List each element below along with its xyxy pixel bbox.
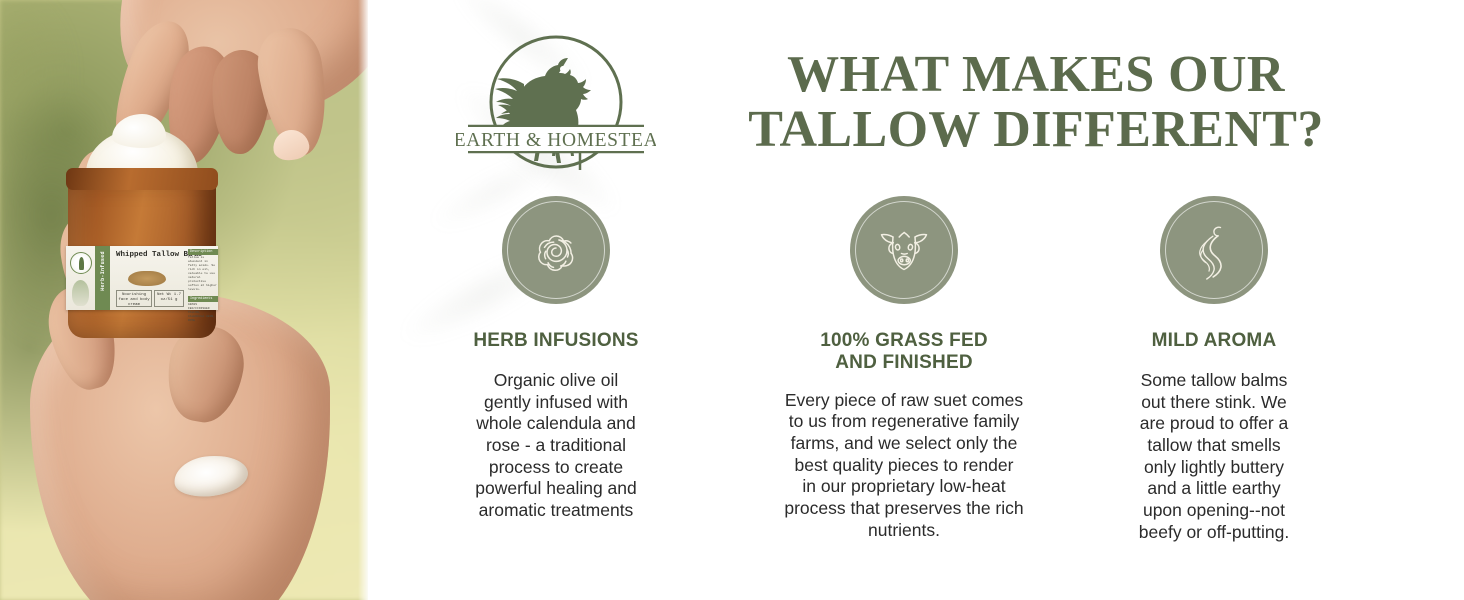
product-photo: Herb-Infused Whipped Tallow Balm Nourish…	[0, 0, 368, 600]
label-net-weight: Net Wt 1.7 oz/51 g	[154, 290, 184, 307]
brand-name-text: HEARTH & HOMESTEAD	[456, 130, 656, 151]
feature-columns: HERB INFUSIONS Organic olive oil gently …	[368, 196, 1464, 543]
cow-head-icon	[873, 222, 935, 278]
brand-logo: HEARTH & HOMESTEAD	[456, 22, 656, 182]
feature-title-2: 100% GRASS FED AND FINISHED	[820, 330, 988, 374]
label-right-panel: Description Tallow is abundant in fatty …	[188, 249, 218, 327]
label-ingredients-body: GRASS FED/FINISHED TALLOW, CALENDULA HER…	[188, 303, 218, 323]
jar-label: Herb-Infused Whipped Tallow Balm Nourish…	[66, 246, 218, 310]
label-sprig-icon	[72, 280, 89, 306]
content-panel: HEARTH & HOMESTEAD WHAT MAKES OUR TALLOW…	[368, 0, 1464, 600]
feature-title-1: HERB INFUSIONS	[473, 330, 638, 352]
feature-icon-badge-1	[502, 196, 610, 304]
label-description-heading: Description	[188, 249, 218, 255]
page-title: WHAT MAKES OUR TALLOW DIFFERENT?	[666, 47, 1424, 157]
feature-body-2: Every piece of raw suet comes to us from…	[784, 390, 1023, 542]
label-cow-icon	[128, 271, 166, 286]
feature-herb-infusions: HERB INFUSIONS Organic olive oil gently …	[432, 196, 680, 543]
feature-grass-fed: 100% GRASS FED AND FINISHED Every piece …	[754, 196, 1054, 543]
rooster-weathervane-icon: HEARTH & HOMESTEAD	[456, 22, 656, 182]
feature-body-1: Organic olive oil gently infused with wh…	[475, 370, 637, 522]
photo-edge-fade	[358, 0, 368, 600]
label-ingredients-heading: Ingredients	[188, 296, 218, 302]
rose-icon	[524, 218, 588, 282]
jar-rim	[66, 168, 218, 190]
feature-icon-badge-3	[1160, 196, 1268, 304]
promo-banner: Herb-Infused Whipped Tallow Balm Nourish…	[0, 0, 1464, 600]
feature-mild-aroma: MILD AROMA Some tallow balms out there s…	[1108, 196, 1320, 543]
label-description-body: Tallow is abundant in fatty acids. So ri…	[188, 256, 218, 292]
label-seal-icon	[70, 252, 92, 274]
label-side-band: Herb-Infused	[95, 246, 110, 310]
feature-body-3: Some tallow balms out there stink. We ar…	[1139, 370, 1289, 544]
label-side-band-text: Herb-Infused	[100, 245, 106, 297]
label-use-text: Nourishing face and body cream	[116, 290, 152, 307]
aroma-swirl-icon	[1185, 218, 1243, 282]
banner-header: HEARTH & HOMESTEAD WHAT MAKES OUR TALLOW…	[368, 22, 1464, 182]
feature-title-3: MILD AROMA	[1152, 330, 1277, 352]
feature-icon-badge-2	[850, 196, 958, 304]
